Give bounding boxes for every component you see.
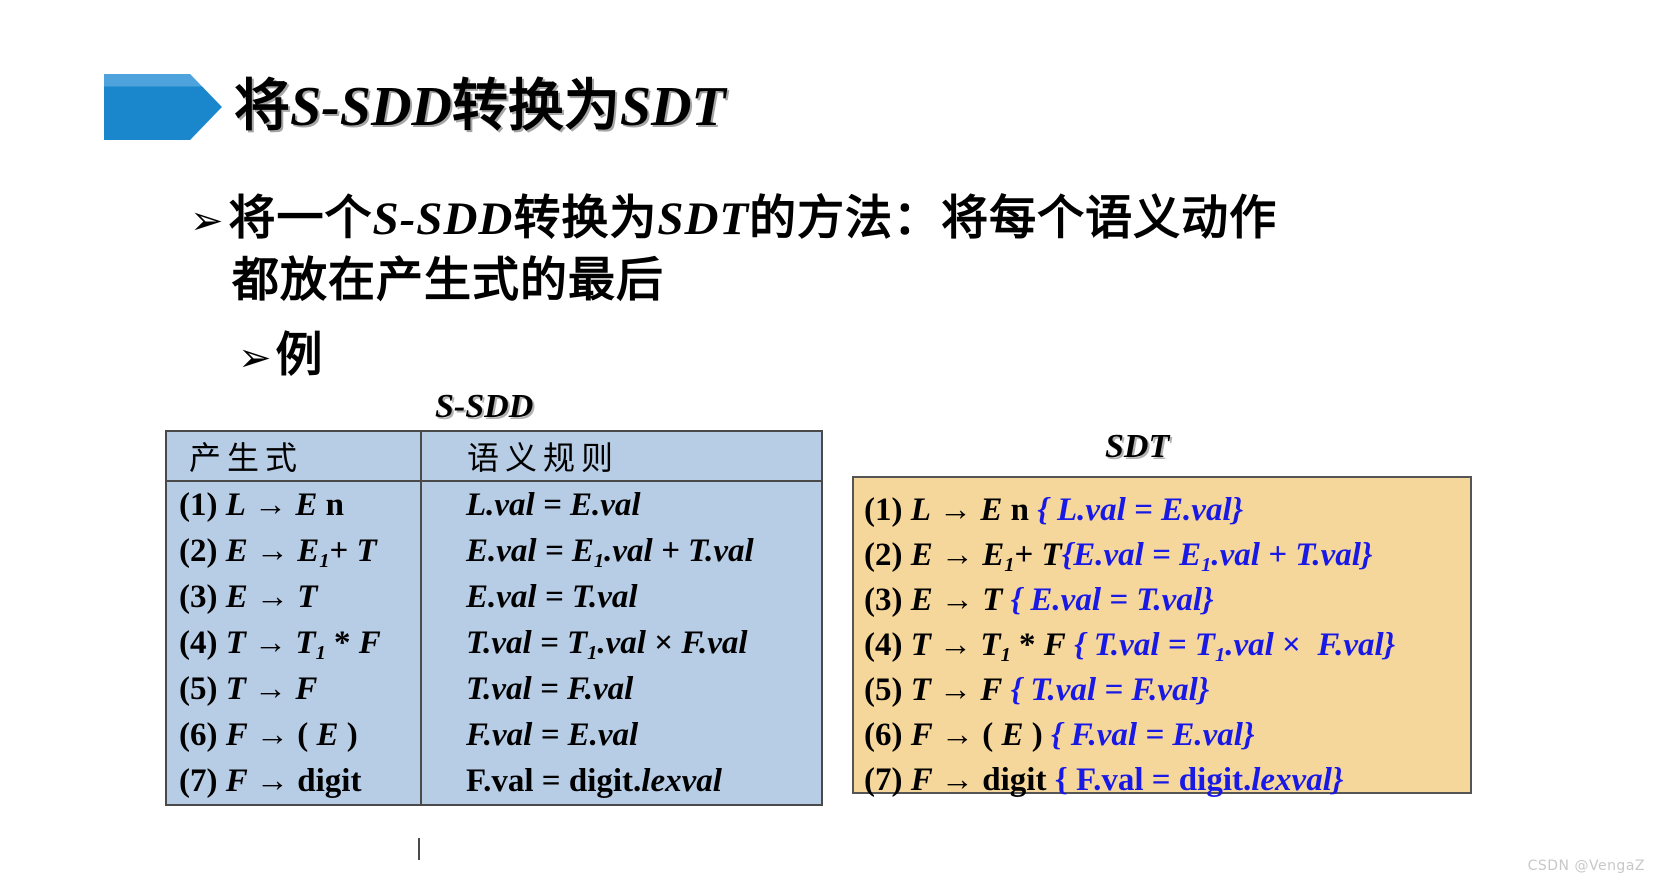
cell-production: (4) T → T1 * F <box>166 620 421 666</box>
bullet-arrow-icon: ➢ <box>190 198 225 244</box>
cell-production: (7) F → digit <box>166 758 421 805</box>
cell-semantic-rule: T.val = T1.val × F.val <box>421 620 822 666</box>
column-header-semantic-rule: 语义规则 <box>421 431 822 481</box>
cell-semantic-rule: L.val = E.val <box>421 481 822 528</box>
table-row: (6) F → ( E ) F.val = E.val <box>166 712 822 758</box>
cell-semantic-rule: T.val = F.val <box>421 666 822 712</box>
slide-title-row: 将S-SDD转换为SDT <box>104 74 726 140</box>
table-row: (7) F → digit F.val = digit.lexval <box>166 758 822 805</box>
column-header-production: 产生式 <box>166 431 421 481</box>
sdt-line: (2) E → E1+ T{E.val = E1.val + T.val} <box>864 533 1470 578</box>
sdt-box: (1) L → E n { L.val = E.val} (2) E → E1+… <box>852 476 1472 794</box>
bullet-example-label: 例 <box>276 330 323 382</box>
sdt-line: (1) L → E n { L.val = E.val} <box>864 488 1470 533</box>
cell-semantic-rule: F.val = digit.lexval <box>421 758 822 805</box>
table-header-row: 产生式 语义规则 <box>166 431 822 481</box>
table-divider-stub <box>418 838 420 860</box>
table-row: (3) E → T E.val = T.val <box>166 574 822 620</box>
chevron-arrow-icon <box>104 74 222 140</box>
ssdd-table: 产生式 语义规则 (1) L → E n L.val = E.val (2) E… <box>165 430 823 806</box>
bullet-arrow-icon: ➢ <box>238 335 272 381</box>
sdt-line: (4) T → T1 * F { T.val = T1.val × F.val} <box>864 623 1470 668</box>
cell-production: (2) E → E1+ T <box>166 528 421 574</box>
cell-semantic-rule: E.val = T.val <box>421 574 822 620</box>
page-title: 将S-SDD转换为SDT <box>234 79 726 135</box>
cell-semantic-rule: F.val = E.val <box>421 712 822 758</box>
sdt-line: (7) F → digit { F.val = digit.lexval} <box>864 758 1470 803</box>
table-row: (4) T → T1 * F T.val = T1.val × F.val <box>166 620 822 666</box>
cell-production: (5) T → F <box>166 666 421 712</box>
table-row: (2) E → E1+ T E.val = E1.val + T.val <box>166 528 822 574</box>
cell-production: (1) L → E n <box>166 481 421 528</box>
sdt-line: (5) T → F { T.val = F.val} <box>864 668 1470 713</box>
cell-production: (3) E → T <box>166 574 421 620</box>
table-row: (1) L → E n L.val = E.val <box>166 481 822 528</box>
cell-semantic-rule: E.val = E1.val + T.val <box>421 528 822 574</box>
bullet-item-example: ➢例 <box>238 328 323 384</box>
ssdd-table-caption: S-SDD <box>435 388 533 426</box>
bullet-item-method: ➢将一个S-SDD转换为SDT的方法：将每个语义动作都放在产生式的最后 <box>190 188 1460 312</box>
table-row: (5) T → F T.val = F.val <box>166 666 822 712</box>
cell-production: (6) F → ( E ) <box>166 712 421 758</box>
sdt-line: (6) F → ( E ) { F.val = E.val} <box>864 713 1470 758</box>
sdt-line: (3) E → T { E.val = T.val} <box>864 578 1470 623</box>
csdn-watermark: CSDN @VengaZ <box>1528 858 1645 874</box>
sdt-box-caption: SDT <box>1105 428 1169 466</box>
